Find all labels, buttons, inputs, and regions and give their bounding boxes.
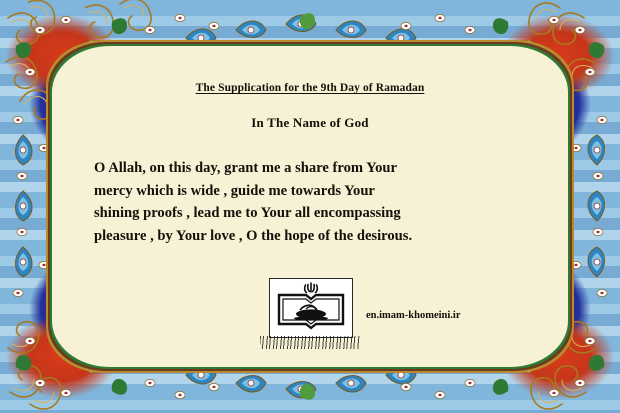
supplication-line-1: O Allah, on this day, grant me a share f…: [94, 157, 526, 180]
institute-logo: [269, 278, 353, 338]
card-content: The Supplication for the 9th Day of Rama…: [46, 40, 574, 373]
site-url-text: en.imam-khomeini.ir: [366, 310, 461, 321]
supplication-line-4: pleasure , by Your love , O the hope of …: [94, 225, 526, 248]
supplication-card: The Supplication for the 9th Day of Rama…: [0, 0, 620, 413]
basmala-heading: In The Name of God: [251, 115, 368, 131]
footer-row: en.imam-khomeini.ir: [46, 278, 574, 356]
logo-arabic-calligraphy: [260, 336, 360, 349]
open-book-icon: [270, 279, 352, 337]
supplication-line-2: mercy which is wide , guide me towards Y…: [94, 180, 526, 203]
supplication-line-3: shining proofs , lead me to Your all enc…: [94, 202, 526, 225]
page-title: The Supplication for the 9th Day of Rama…: [196, 82, 425, 94]
supplication-body: O Allah, on this day, grant me a share f…: [94, 157, 526, 247]
